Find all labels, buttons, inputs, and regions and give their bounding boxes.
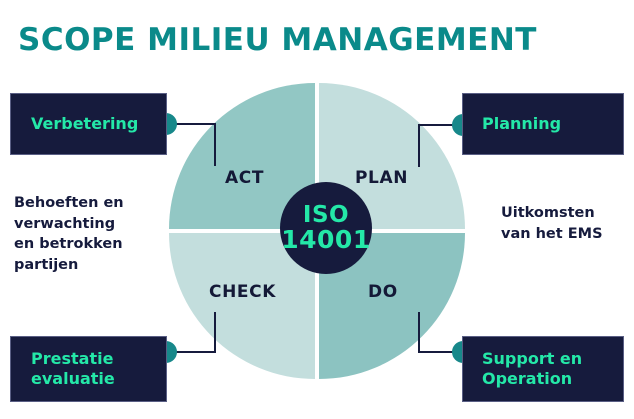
box-support-en-operation[interactable]: Support en Operation [462,336,624,402]
box-verbetering[interactable]: Verbetering [10,93,167,155]
diagram-canvas: SCOPE MILIEU MANAGEMENT ACT PLAN CHECK D… [0,0,634,419]
box-planning-label: Planning [482,114,561,134]
box-planning[interactable]: Planning [462,93,624,155]
page-title: SCOPE MILIEU MANAGEMENT [18,22,537,58]
box-verbetering-label: Verbetering [31,114,138,134]
text-behoeften-en-verwachting: Behoeften en verwachting en betrokken pa… [14,193,164,276]
quadrant-label-do: DO [368,282,398,302]
quadrant-label-check: CHECK [209,282,276,302]
quadrant-label-act: ACT [225,168,264,188]
text-uitkomsten-van-het-ems: Uitkomsten van het EMS [501,203,631,244]
box-prestatie-evaluatie-label: Prestatie evaluatie [31,349,115,390]
iso-center-badge: ISO 14001 [280,182,372,274]
box-prestatie-evaluatie[interactable]: Prestatie evaluatie [10,336,167,402]
quadrant-label-plan: PLAN [355,168,408,188]
iso-label: ISO [303,204,349,227]
box-support-en-operation-label: Support en Operation [482,349,582,390]
iso-number: 14001 [281,227,370,253]
